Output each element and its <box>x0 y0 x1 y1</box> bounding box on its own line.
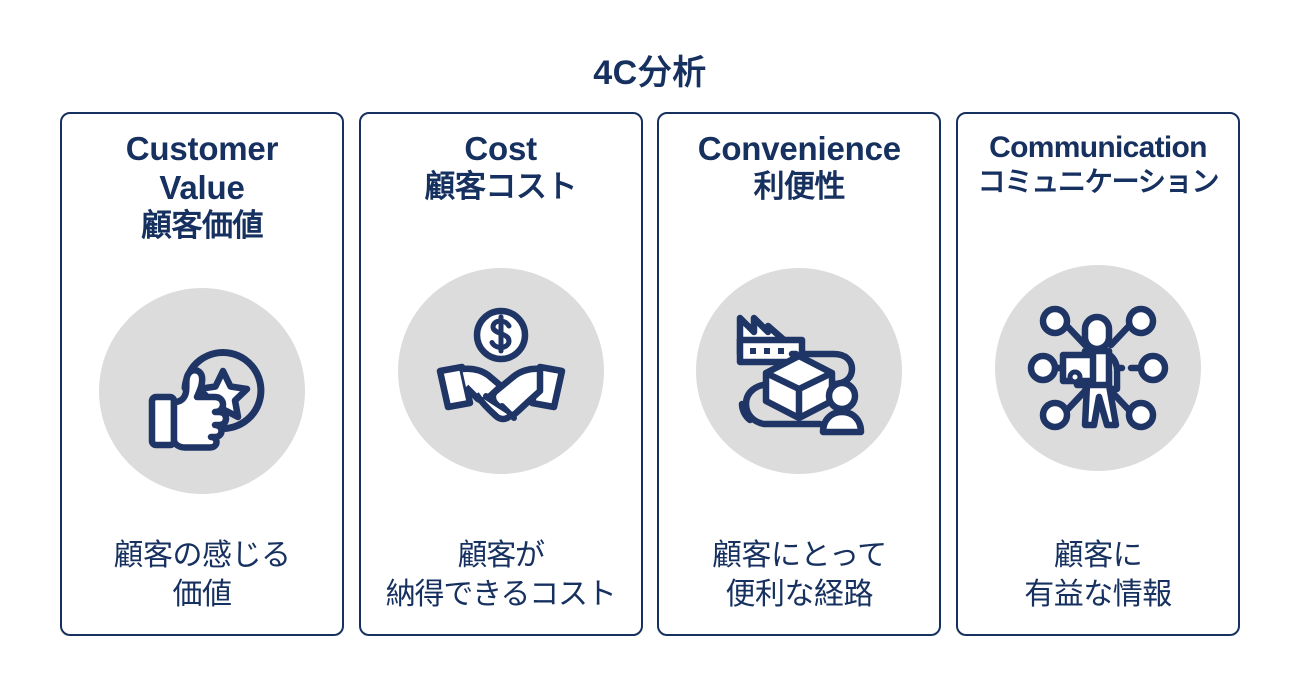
factory-box-customer-icon <box>724 296 874 446</box>
card-caption: 顧客が 納得できるコスト <box>386 537 616 616</box>
card-heading-ja: 顧客価値 <box>70 208 334 245</box>
diagram-title: 4C分析 <box>0 56 1300 90</box>
card-caption-line2: 便利な経路 <box>712 576 887 614</box>
card-caption: 顧客にとって 便利な経路 <box>712 537 887 616</box>
card-heading: Communication コミュニケーション <box>966 130 1230 198</box>
person-network-icon <box>1023 293 1173 443</box>
medallion <box>696 268 902 474</box>
card-caption: 顧客の感じる 価値 <box>114 537 291 616</box>
card-heading-en-line1: Cost <box>369 130 633 169</box>
medallion <box>995 265 1201 471</box>
card-caption-line1: 顧客が <box>386 537 616 575</box>
card-cost[interactable]: Cost 顧客コスト <box>359 112 643 636</box>
card-caption-line1: 顧客の感じる <box>114 537 291 575</box>
card-heading-ja: 利便性 <box>667 169 931 206</box>
card-heading-ja: コミュニケーション <box>966 165 1230 198</box>
card-convenience[interactable]: Convenience 利便性 <box>657 112 941 636</box>
card-caption-line2: 価値 <box>114 576 291 614</box>
card-list: Customer Value 顧客価値 <box>60 112 1240 636</box>
card-customer-value[interactable]: Customer Value 顧客価値 <box>60 112 344 636</box>
medallion-wrap <box>369 206 633 538</box>
card-heading-en-line1: Customer <box>70 130 334 169</box>
card-heading: Cost 顧客コスト <box>369 130 633 206</box>
card-caption: 顧客に 有益な情報 <box>1024 537 1172 616</box>
medallion <box>398 268 604 474</box>
card-heading-ja: 顧客コスト <box>369 169 633 206</box>
medallion <box>99 288 305 494</box>
card-heading-en-line1: Communication <box>966 130 1230 165</box>
diagram-canvas: 4C分析 Customer Value 顧客価値 <box>0 0 1300 700</box>
card-caption-line1: 顧客に <box>1024 537 1172 575</box>
card-heading: Customer Value 顧客価値 <box>70 130 334 244</box>
medallion-wrap <box>966 198 1230 537</box>
card-heading-en-line1: Convenience <box>667 130 931 169</box>
card-caption-line2: 有益な情報 <box>1024 576 1172 614</box>
card-heading: Convenience 利便性 <box>667 130 931 206</box>
card-communication[interactable]: Communication コミュニケーション <box>956 112 1240 636</box>
card-caption-line2: 納得できるコスト <box>386 576 616 614</box>
medallion-wrap <box>70 244 334 537</box>
card-caption-line1: 顧客にとって <box>712 537 887 575</box>
card-heading-en-line2: Value <box>70 169 334 208</box>
thumbs-up-star-icon <box>127 316 277 466</box>
handshake-coin-icon <box>426 296 576 446</box>
medallion-wrap <box>667 206 931 538</box>
